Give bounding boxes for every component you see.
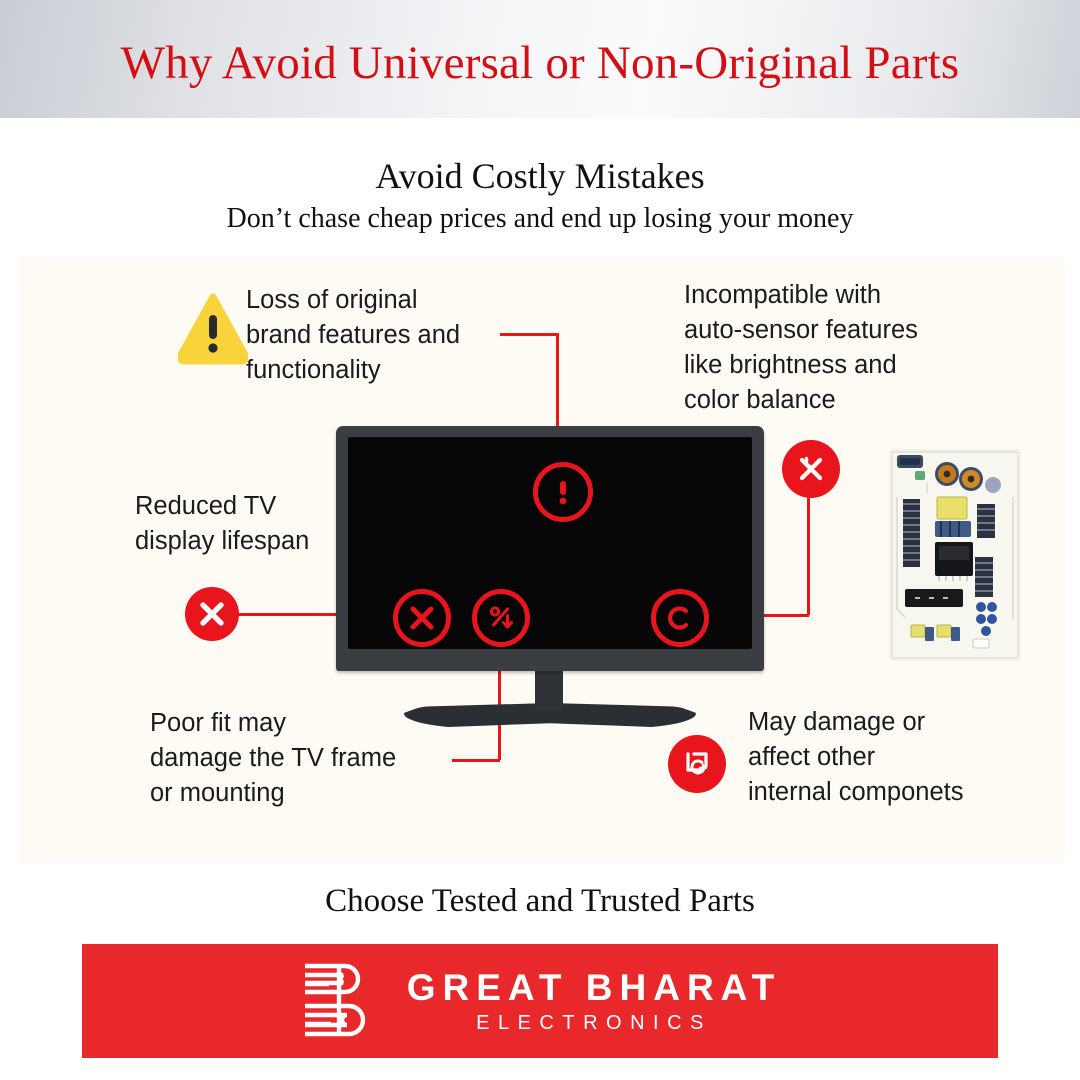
connector-line-right-v [807, 497, 810, 615]
callout-line: brand features and [246, 318, 546, 353]
percent-marker-icon [472, 589, 530, 647]
callout-line: internal componets [748, 775, 1028, 810]
callout-loss-of-brand-features: Loss of original brand features and func… [246, 283, 546, 388]
infographic-root: Why Avoid Universal or Non-Original Part… [0, 0, 1080, 1080]
x-marker-icon [393, 589, 451, 647]
footer-tagline: Choose Tested and Trusted Parts [0, 883, 1080, 920]
callout-line: damage the TV frame [150, 741, 480, 776]
connector-line-top-left-h [500, 333, 558, 336]
callout-line: like brightness and [684, 348, 984, 383]
intro-description: Don’t chase cheap prices and end up losi… [0, 203, 1080, 235]
exclamation-marker-icon [533, 462, 593, 522]
page-title: Why Avoid Universal or Non-Original Part… [0, 36, 1080, 90]
callout-line: functionality [246, 353, 546, 388]
brand-banner: GREAT BHARAT ELECTRONICS [82, 944, 998, 1058]
callout-line: color balance [684, 383, 984, 418]
callout-incompatible-auto-sensor: Incompatible with auto-sensor features l… [684, 278, 984, 418]
c-marker-icon [651, 589, 709, 647]
callout-line: Incompatible with [684, 278, 984, 313]
warning-triangle-icon [178, 293, 248, 365]
callout-line: affect other [748, 740, 1028, 775]
intro-title: Avoid Costly Mistakes [0, 155, 1080, 197]
connector-line-bottom-left-h [452, 759, 500, 762]
brand-subtitle: ELECTRONICS [476, 1010, 712, 1036]
callout-line: Loss of original [246, 283, 546, 318]
callout-line: May damage or [748, 705, 1028, 740]
brand-name: GREAT BHARAT [407, 966, 782, 1010]
circuit-board-image [889, 449, 1021, 661]
export-arrow-icon [668, 735, 726, 793]
brand-logo-icon [299, 956, 377, 1047]
tv-stand-neck [535, 669, 563, 711]
callout-damage-internal-components: May damage or affect other internal comp… [748, 705, 1028, 810]
scissors-tools-icon [782, 440, 840, 498]
callout-line: or mounting [150, 776, 480, 811]
x-circle-icon [185, 587, 239, 641]
callout-line: auto-sensor features [684, 313, 984, 348]
